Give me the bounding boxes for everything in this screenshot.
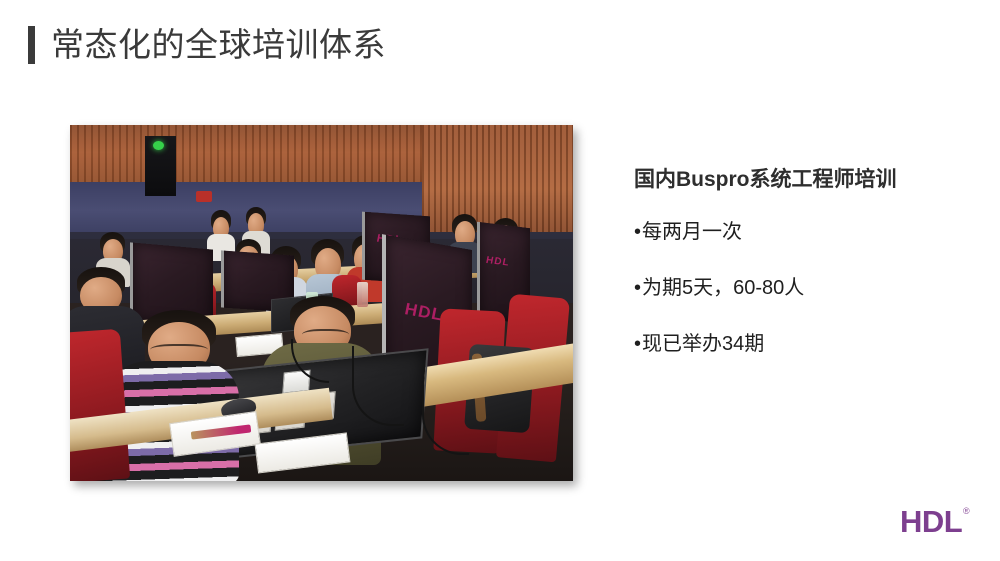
bullet-marker: •: [634, 329, 641, 359]
bullet-item: •每两月一次: [634, 217, 974, 247]
case-hdl-logo: HDL: [486, 254, 510, 268]
bullet-text: 每两月一次: [642, 221, 742, 243]
content-column: 国内Buspro系统工程师培训 •每两月一次 •为期5天，60-80人 •现已举…: [634, 165, 974, 359]
bullet-marker: •: [634, 217, 641, 247]
page-title: 常态化的全球培训体系: [28, 22, 386, 68]
glasses-icon: [150, 344, 208, 358]
exit-sign-icon: [196, 191, 212, 202]
hdl-logo-text: HDL: [900, 505, 986, 539]
bullet-marker: •: [634, 273, 641, 303]
slide: 常态化的全球培训体系: [0, 0, 1000, 561]
bullet-text: 为期5天，60-80人: [642, 277, 804, 299]
bullet-item: •现已举办34期: [634, 329, 974, 359]
chair-red: [70, 329, 130, 481]
hdl-logo: HDL ®: [900, 505, 986, 545]
training-photo: HDL HDL: [70, 125, 573, 481]
wood-wall-panel-right: [422, 125, 573, 232]
title-text: 常态化的全球培训体系: [51, 25, 386, 65]
case-hdl-logo: HDL: [405, 300, 443, 327]
content-heading: 国内Buspro系统工程师培训: [634, 165, 974, 195]
title-accent-bar: [28, 26, 35, 64]
registered-trademark-icon: ®: [963, 506, 970, 516]
bullet-item: •为期5天，60-80人: [634, 273, 974, 303]
photo-canvas: HDL HDL: [70, 125, 573, 481]
bullet-text: 现已举办34期: [642, 333, 764, 355]
